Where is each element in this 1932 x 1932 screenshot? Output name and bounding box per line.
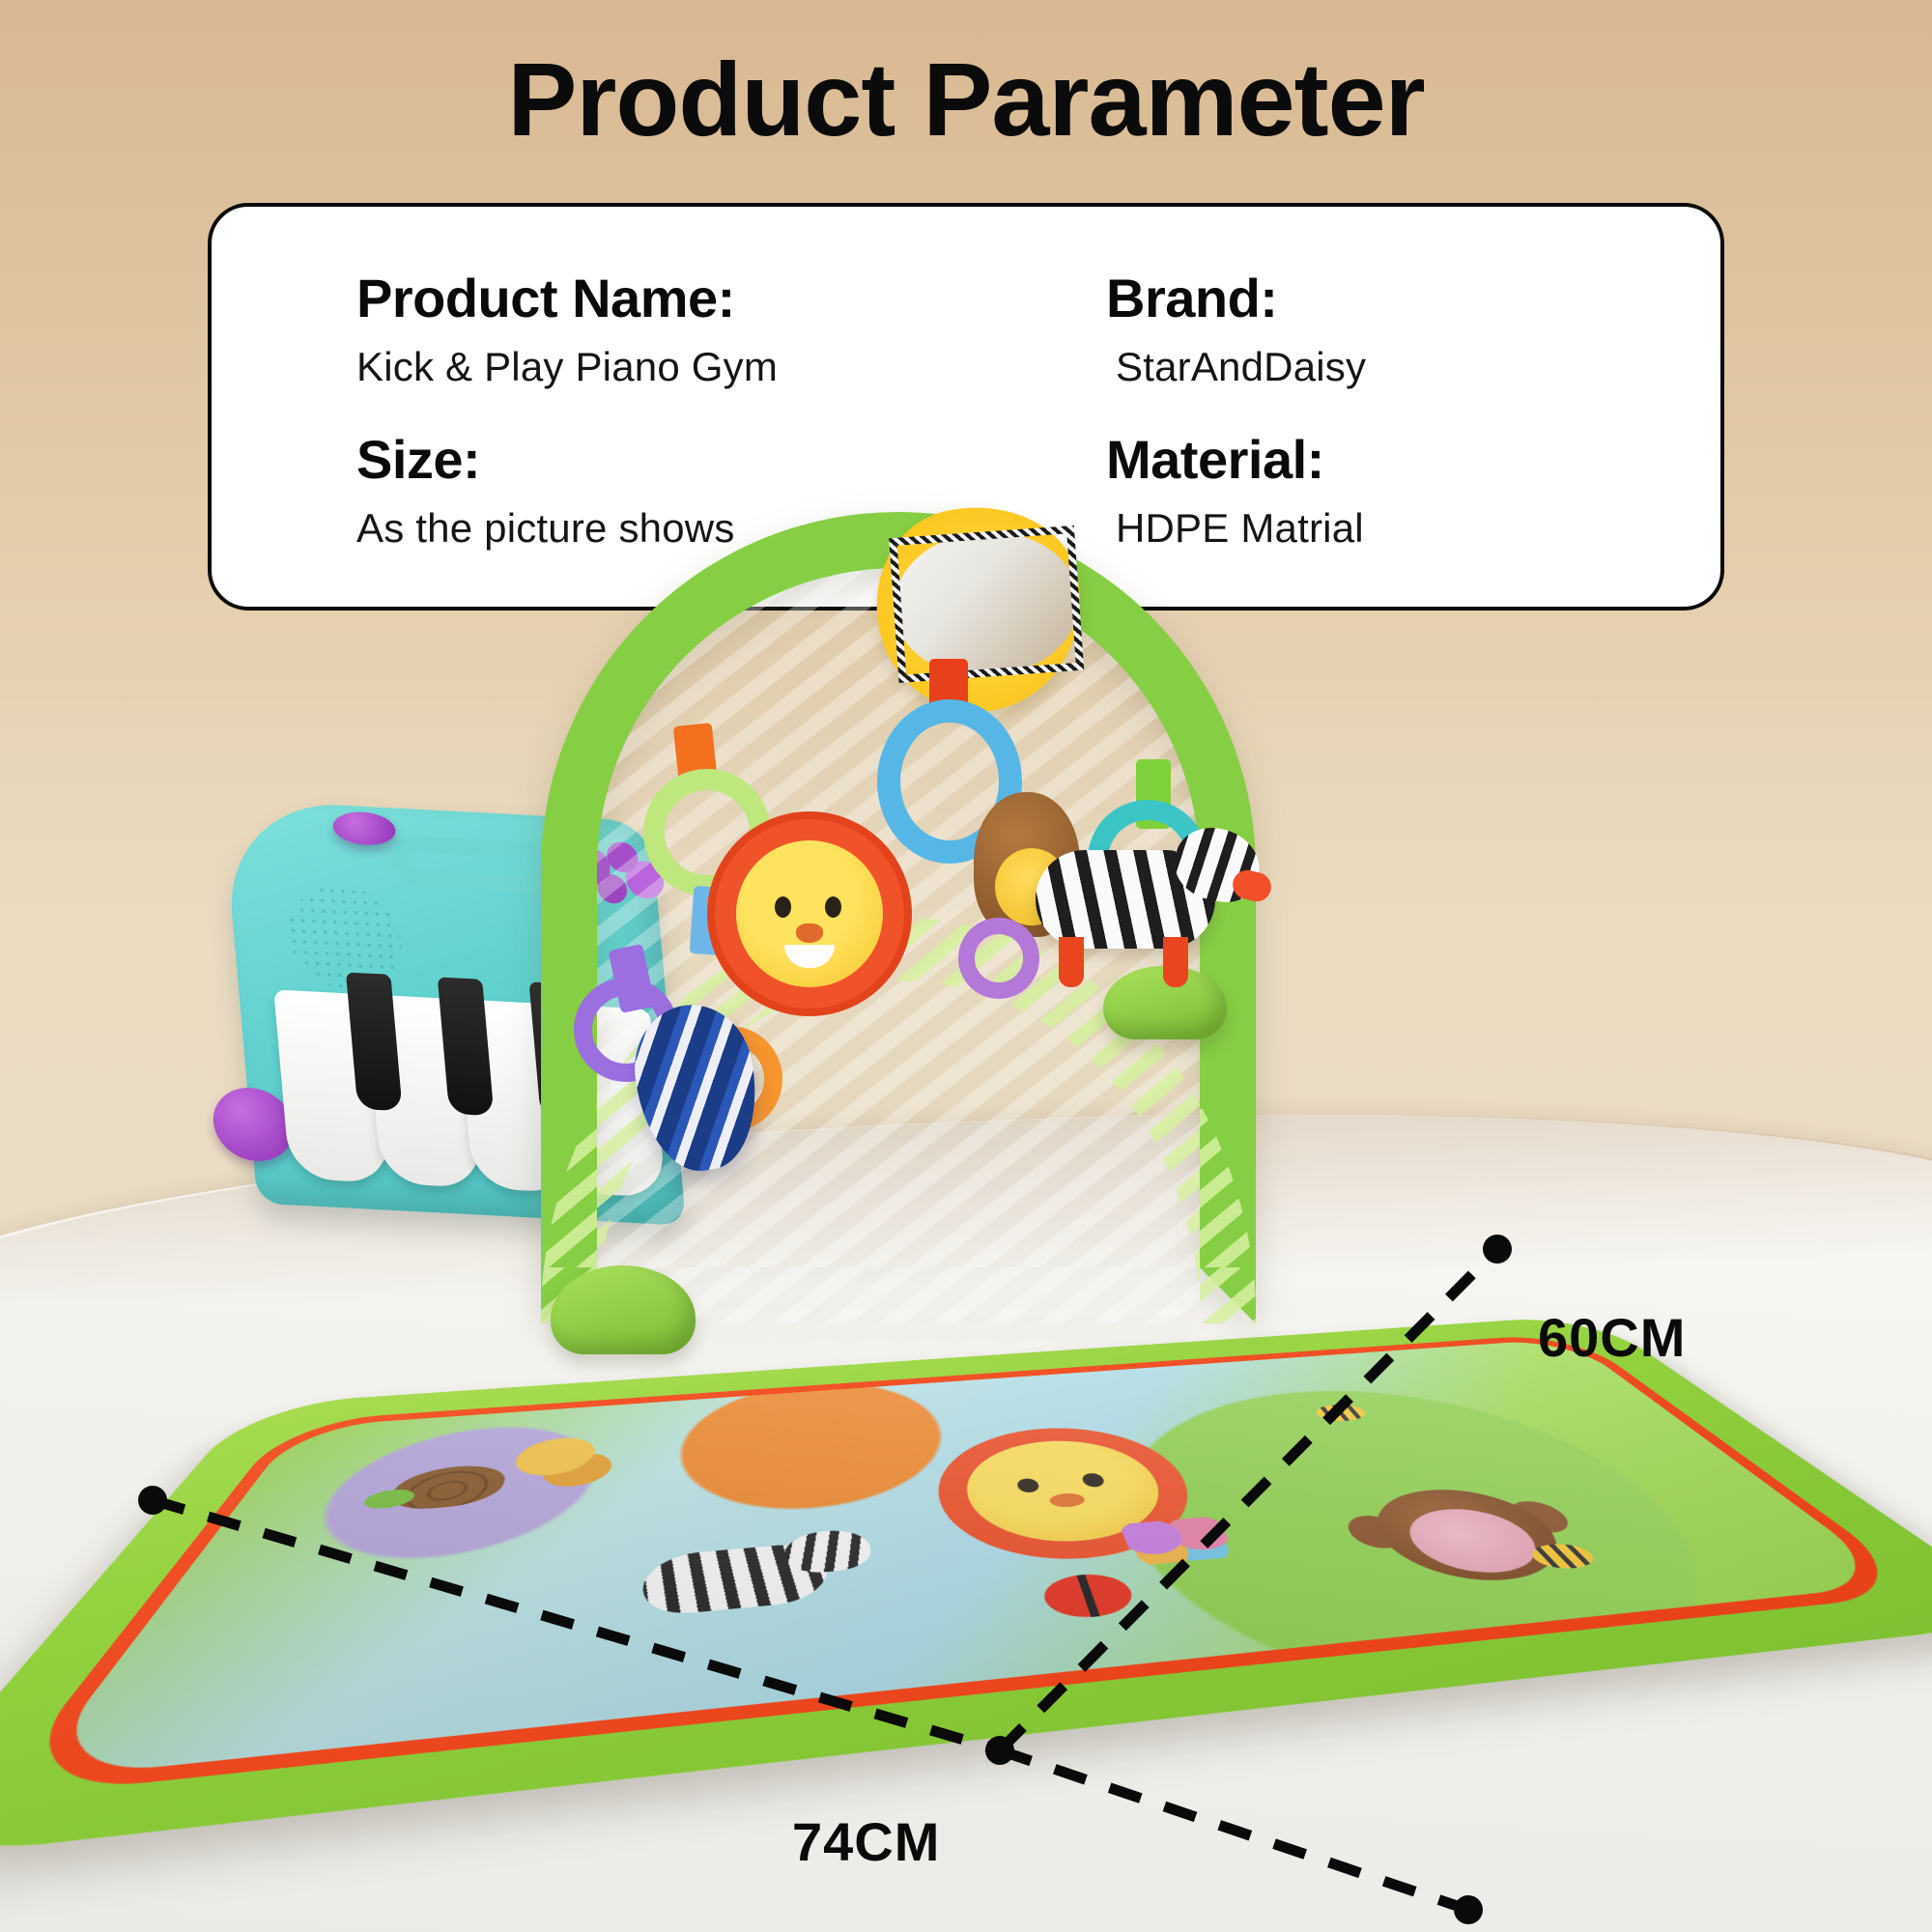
dimension-label-width: 74CM bbox=[792, 1810, 940, 1873]
dimension-line-width bbox=[153, 1500, 1000, 1750]
dimension-overlay: 60CM 74CM bbox=[0, 0, 1932, 1932]
dimension-label-depth: 60CM bbox=[1538, 1306, 1686, 1369]
dimension-line-depth bbox=[1000, 1249, 1497, 1750]
dimension-endpoint-corner bbox=[985, 1736, 1014, 1765]
dimension-endpoint-left bbox=[138, 1486, 167, 1515]
dimension-endpoint-top-right bbox=[1483, 1235, 1512, 1264]
dimension-lines bbox=[0, 0, 1932, 1932]
dimension-endpoint-bottom-right bbox=[1454, 1895, 1483, 1924]
dimension-line-front bbox=[1000, 1750, 1468, 1910]
infographic-canvas: Product Parameter Product Name: Kick & P… bbox=[0, 0, 1932, 1932]
